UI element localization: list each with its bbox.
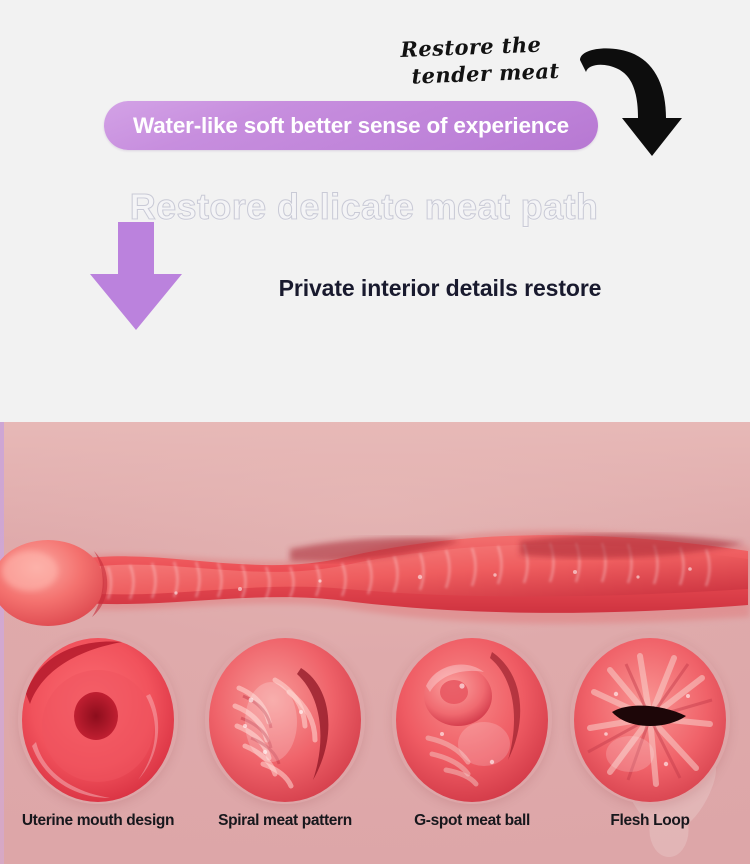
product-promo-page: Restore the tender meat Water-like soft …: [0, 0, 750, 864]
feature-pill-banner: Water-like soft better sense of experien…: [104, 101, 598, 150]
curved-arrow-icon: [578, 44, 688, 159]
inset-item: Flesh Loop: [570, 634, 730, 804]
spiral-texture-icon: [205, 634, 365, 804]
product-photo-panel: Uterine mouth design: [0, 422, 750, 864]
inset-caption: Uterine mouth design: [0, 812, 198, 830]
inset-caption: G-spot meat ball: [372, 812, 572, 830]
sub-heading: Private interior details restore: [0, 275, 750, 302]
feature-pill-label: Water-like soft better sense of experien…: [133, 113, 569, 139]
inset-gallery: Uterine mouth design: [0, 622, 750, 864]
promo-panel: Restore the tender meat Water-like soft …: [0, 0, 750, 422]
ring-orifice-icon: [18, 634, 178, 804]
pleated-loop-icon: [570, 634, 730, 804]
inset-caption: Flesh Loop: [550, 812, 750, 830]
inset-item: G-spot meat ball: [392, 634, 552, 804]
inset-caption: Spiral meat pattern: [185, 812, 385, 830]
nodule-texture-icon: [392, 634, 552, 804]
inset-item: Uterine mouth design: [18, 634, 178, 804]
inset-item: Spiral meat pattern: [205, 634, 365, 804]
handwritten-note: Restore the tender meat: [400, 28, 602, 90]
